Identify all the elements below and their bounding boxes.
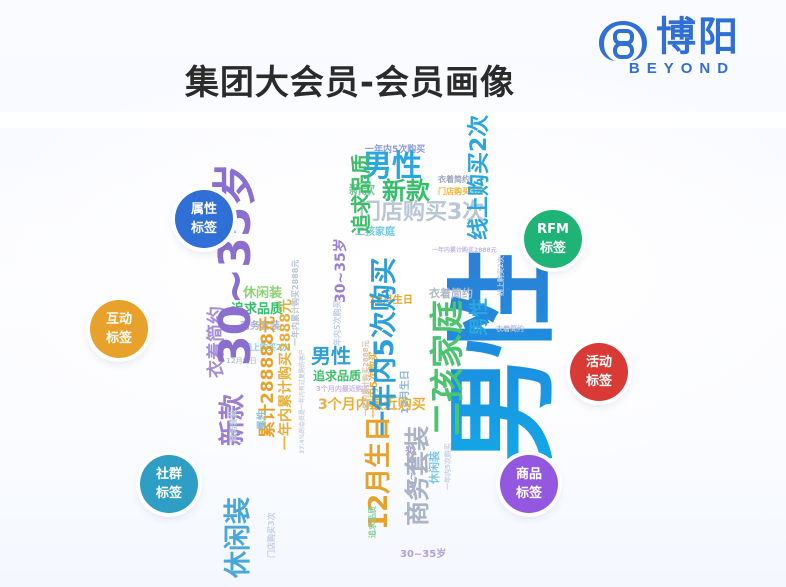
badge-label-line2: 标签 [540, 239, 566, 258]
slide-header: 集团大会员-会员画像 博阳 BEYOND [0, 0, 786, 118]
wordcloud-word: 门店购买3次 [359, 202, 484, 224]
slide-canvas: 集团大会员-会员画像 博阳 BEYOND 男性 一年内5次购买男性新款新款衣着简… [0, 0, 786, 587]
beyond-logo-mark-icon [596, 18, 652, 64]
wordcloud-word: 商务套装 [405, 426, 430, 526]
wordcloud-word: 二孩家庭 [431, 300, 465, 436]
wordcloud-word: 一年内5次购买 [371, 257, 398, 438]
wordcloud-word: 一年内5次购买 [445, 443, 452, 490]
wordcloud-word: 商务套装 [230, 410, 238, 442]
wordcloud-word: 休闲装 [225, 497, 252, 578]
badge-label-line2: 标签 [516, 484, 542, 503]
badge-label-line1: RFM [537, 220, 569, 239]
wordcloud-word: 30~35岁 [400, 550, 446, 560]
badge-campaign-tag[interactable]: 活动标签 [570, 343, 628, 401]
logo-english-name: BEYOND [598, 60, 766, 77]
wordcloud-word: 37.4%的会员是一年内有过复购的客户 [300, 349, 306, 454]
badge-label-line2: 标签 [586, 372, 612, 391]
wordcloud-word: 线上购买2次 [469, 115, 491, 240]
wordcloud-word: 线上购买2次 [498, 256, 505, 296]
badge-product-tag[interactable]: 商品标签 [500, 455, 558, 513]
wordcloud-word: 一年内累计购买2888元 [279, 299, 293, 450]
badge-label-line2: 标签 [156, 484, 182, 503]
wordcloud-word: 30~35岁 [214, 163, 258, 366]
badge-label-line1: 社群 [156, 465, 182, 484]
wordcloud-word: 30~35岁 [334, 238, 348, 303]
badge-rfm-tag[interactable]: RFM标签 [524, 210, 582, 268]
wordcloud-word: 追求品质 [369, 506, 377, 538]
page-title: 集团大会员-会员画像 [0, 55, 700, 104]
badge-label-line1: 属性 [191, 200, 217, 219]
wordcloud-word: 男性 [311, 346, 351, 366]
badge-interaction-tag[interactable]: 互动标签 [90, 300, 148, 358]
badge-label-line2: 标签 [191, 219, 217, 238]
badge-attribute-tag[interactable]: 属性标签 [175, 190, 233, 248]
badge-label-line1: 互动 [106, 310, 132, 329]
brand-logo: 博阳 BEYOND [596, 16, 766, 80]
wordcloud-word: 衣着简约 [429, 288, 473, 299]
wordcloud-word: 男性 [258, 410, 268, 430]
wordcloud-word: 12月生日 [401, 370, 411, 414]
wordcloud-word: 衣着简约 [496, 326, 524, 333]
badge-label-line1: 活动 [586, 353, 612, 372]
wordcloud-word: 追求品质 [351, 154, 371, 234]
wordcloud-word: 一年内5次购买 [334, 300, 342, 354]
badge-label-line2: 标签 [106, 329, 132, 348]
badge-label-line1: 商品 [516, 465, 542, 484]
wordcloud-word: 追求品质 [313, 370, 361, 382]
wordcloud-word: 一年内累计购买2888元 [432, 248, 497, 254]
wordcloud-word: 门店购买3次 [268, 512, 276, 558]
wordcloud-word: 男性 [470, 298, 489, 336]
badge-community-tag[interactable]: 社群标签 [140, 455, 198, 513]
wordcloud-word: 衣着简约 [438, 176, 470, 184]
logo-chinese-name: 博阳 [656, 14, 740, 60]
